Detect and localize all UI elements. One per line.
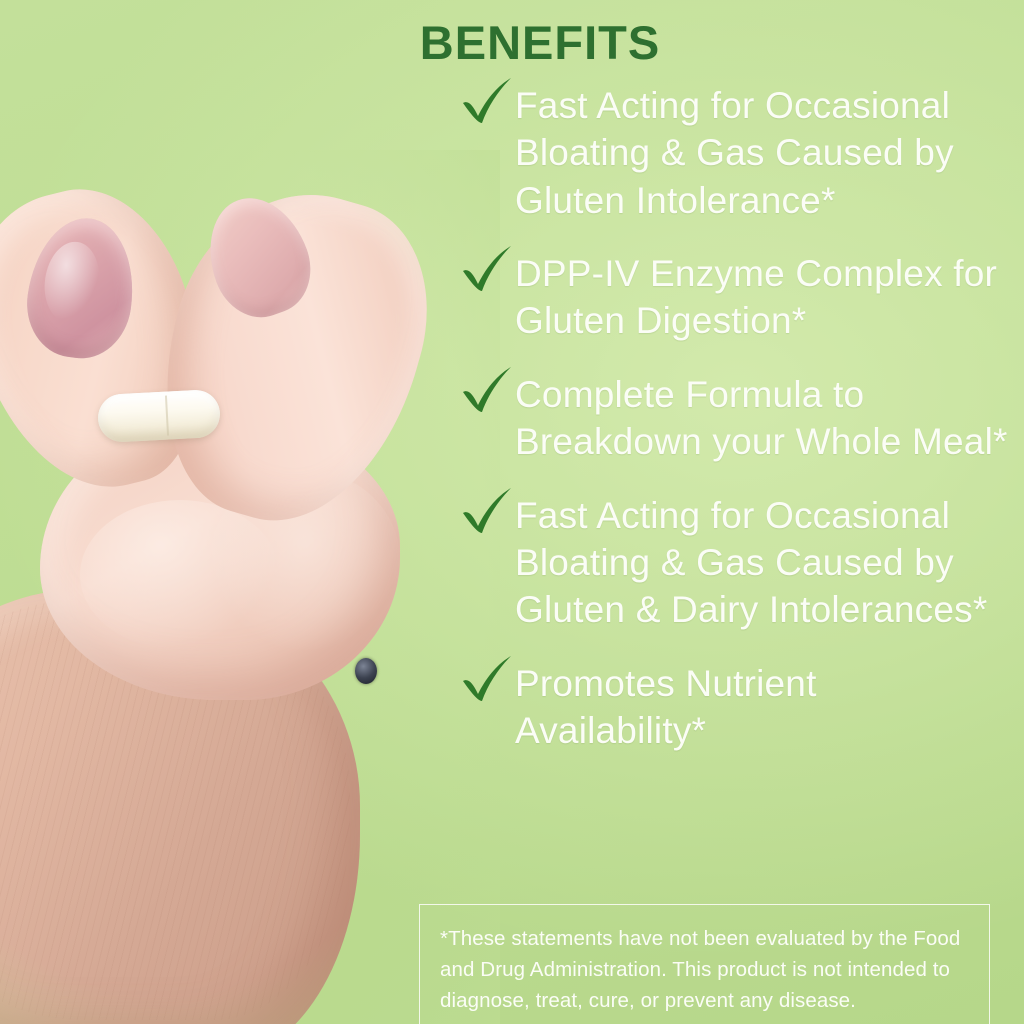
benefit-text: Complete Formula to Breakdown your Whole… bbox=[515, 371, 1015, 466]
index-fingernail bbox=[193, 184, 324, 330]
thumb-fingernail bbox=[20, 211, 142, 364]
benefit-text: Fast Acting for Occasional Bloating & Ga… bbox=[515, 492, 1015, 634]
hand-holding-capsule-image bbox=[0, 170, 480, 1024]
benefit-item: Complete Formula to Breakdown your Whole… bbox=[455, 371, 1015, 466]
check-mark-icon bbox=[459, 244, 515, 296]
page-title: BENEFITS bbox=[390, 18, 690, 69]
disclaimer-box: *These statements have not been evaluate… bbox=[419, 904, 990, 1024]
benefits-list: Fast Acting for Occasional Bloating & Ga… bbox=[455, 82, 1015, 780]
check-mark-icon bbox=[459, 76, 515, 128]
jewelry-speck bbox=[355, 658, 377, 684]
capsule-pill bbox=[97, 389, 221, 443]
benefit-text: Promotes Nutrient Availability* bbox=[515, 660, 1015, 755]
disclaimer-text: *These statements have not been evaluate… bbox=[440, 923, 969, 1016]
benefit-text: DPP-IV Enzyme Complex for Gluten Digesti… bbox=[515, 250, 1015, 345]
benefits-infographic: BENEFITS Fast Acting for Occasional Bloa… bbox=[0, 0, 1024, 1024]
check-mark-icon bbox=[459, 365, 515, 417]
benefit-item: Promotes Nutrient Availability* bbox=[455, 660, 1015, 755]
benefit-text: Fast Acting for Occasional Bloating & Ga… bbox=[515, 82, 1015, 224]
check-mark-icon bbox=[459, 486, 515, 538]
benefit-item: DPP-IV Enzyme Complex for Gluten Digesti… bbox=[455, 250, 1015, 345]
benefit-item: Fast Acting for Occasional Bloating & Ga… bbox=[455, 492, 1015, 634]
benefit-item: Fast Acting for Occasional Bloating & Ga… bbox=[455, 82, 1015, 224]
check-mark-icon bbox=[459, 654, 515, 706]
